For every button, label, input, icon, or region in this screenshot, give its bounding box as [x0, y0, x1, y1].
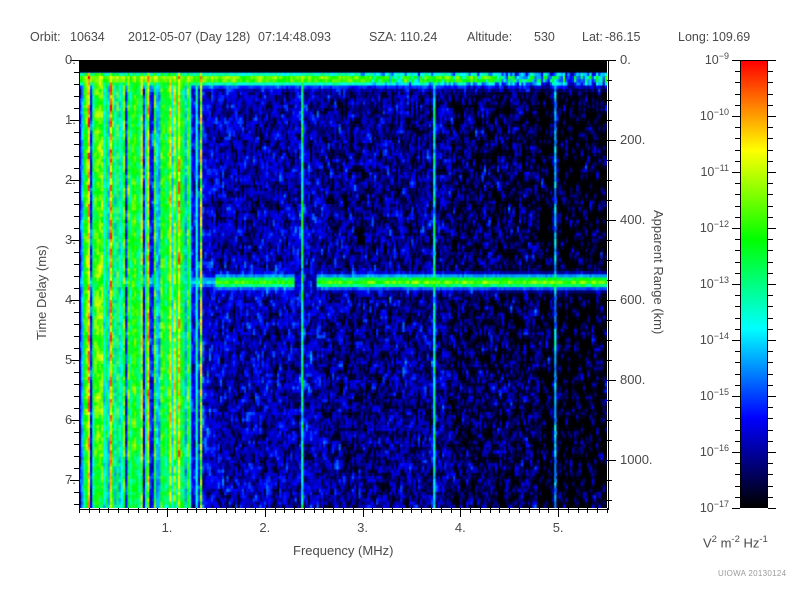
y-right-minor-tick [607, 420, 612, 421]
x-axis-title: Frequency (MHz) [293, 543, 393, 558]
y-left-minor-tick [74, 468, 79, 469]
y-left-minor-tick [74, 216, 79, 217]
y-left-minor-tick [74, 384, 79, 385]
header-metadata: Orbit: 10634 2012-05-07 (Day 128) 07:14:… [0, 30, 800, 48]
colorbar-minor-tick [735, 105, 740, 106]
y-right-major-tick [607, 140, 616, 141]
x-major-tick [363, 508, 364, 517]
y-left-minor-tick [74, 372, 79, 373]
colorbar-major-tick [768, 452, 776, 453]
unit-hz: Hz [740, 535, 760, 550]
y-left-minor-tick [74, 348, 79, 349]
x-minor-tick [226, 508, 227, 513]
x-minor-tick [108, 508, 109, 513]
colorbar-minor-tick [735, 161, 740, 162]
long-label: Long: [678, 30, 709, 44]
x-minor-tick [118, 508, 119, 513]
colorbar-minor-tick [735, 486, 740, 487]
x-minor-tick [138, 508, 139, 513]
colorbar-major-tick [732, 60, 740, 61]
colorbar-minor-tick [768, 430, 773, 431]
y-left-minor-tick [74, 492, 79, 493]
colorbar-unit-label: V2 m-2 Hz-1 [703, 534, 768, 550]
x-tick-label: 1. [162, 520, 173, 535]
colorbar-minor-tick [735, 273, 740, 274]
date-value: 2012-05-07 (Day 128) [128, 30, 250, 44]
colorbar-tick-label: 10−17 [700, 499, 729, 515]
x-minor-tick [392, 508, 393, 513]
y-left-minor-tick [74, 288, 79, 289]
colorbar-minor-tick [735, 239, 740, 240]
colorbar-major-tick [768, 396, 776, 397]
y-right-minor-tick [607, 280, 612, 281]
y-right-tick-label: 200. [620, 132, 645, 147]
colorbar-major-tick [732, 508, 740, 509]
x-minor-tick [421, 508, 422, 513]
x-minor-tick [255, 508, 256, 513]
y-left-minor-tick [74, 408, 79, 409]
y-left-minor-tick [74, 396, 79, 397]
y-axis-left-title: Time Delay (ms) [34, 245, 49, 340]
x-minor-tick [470, 508, 471, 513]
y-left-minor-tick [74, 84, 79, 85]
colorbar-minor-tick [768, 161, 773, 162]
orbit-label: Orbit: [30, 30, 61, 44]
x-tick-label: 3. [357, 520, 368, 535]
y-right-minor-tick [607, 480, 612, 481]
y-right-minor-tick [607, 360, 612, 361]
colorbar-minor-tick [768, 362, 773, 363]
colorbar-tick-label: 10−11 [700, 163, 729, 179]
colorbar-minor-tick [735, 127, 740, 128]
colorbar-major-tick [732, 172, 740, 173]
y-right-major-tick [607, 220, 616, 221]
colorbar-major-tick [768, 340, 776, 341]
colorbar-minor-tick [768, 217, 773, 218]
colorbar-minor-tick [735, 262, 740, 263]
y-left-minor-tick [74, 264, 79, 265]
colorbar-minor-tick [768, 138, 773, 139]
colorbar-major-tick [732, 340, 740, 341]
x-minor-tick [128, 508, 129, 513]
colorbar-minor-tick [735, 295, 740, 296]
x-minor-tick [343, 508, 344, 513]
y-right-minor-tick [607, 100, 612, 101]
y-right-tick-label: 0. [620, 52, 631, 67]
colorbar-minor-tick [735, 351, 740, 352]
y-left-minor-tick [74, 156, 79, 157]
colorbar-minor-tick [768, 94, 773, 95]
colorbar-major-tick [768, 60, 776, 61]
colorbar-minor-tick [735, 94, 740, 95]
colorbar-minor-tick [768, 250, 773, 251]
colorbar-minor-tick [735, 441, 740, 442]
x-major-tick [558, 508, 559, 517]
colorbar-tick-label: 10−13 [700, 275, 729, 291]
y-right-minor-tick [607, 320, 612, 321]
colorbar-minor-tick [735, 374, 740, 375]
colorbar-minor-tick [768, 486, 773, 487]
colorbar-major-tick [732, 228, 740, 229]
y-right-major-tick [607, 60, 616, 61]
y-left-minor-tick [74, 276, 79, 277]
colorbar-minor-tick [735, 82, 740, 83]
colorbar-major-tick [732, 396, 740, 397]
colorbar-major-tick [768, 508, 776, 509]
colorbar-minor-tick [768, 441, 773, 442]
colorbar-minor-tick [768, 374, 773, 375]
colorbar-minor-tick [768, 351, 773, 352]
colorbar-minor-tick [768, 183, 773, 184]
x-minor-tick [431, 508, 432, 513]
x-minor-tick [372, 508, 373, 513]
x-minor-tick [235, 508, 236, 513]
x-minor-tick [597, 508, 598, 513]
x-minor-tick [333, 508, 334, 513]
x-minor-tick [275, 508, 276, 513]
ionogram-figure: Orbit: 10634 2012-05-07 (Day 128) 07:14:… [0, 0, 800, 600]
colorbar-major-tick [732, 284, 740, 285]
y-left-minor-tick [74, 504, 79, 505]
colorbar-minor-tick [768, 71, 773, 72]
colorbar-minor-tick [768, 418, 773, 419]
sza-label: SZA: [369, 30, 397, 44]
colorbar-minor-tick [768, 127, 773, 128]
y-left-minor-tick [74, 324, 79, 325]
colorbar-minor-tick [735, 497, 740, 498]
y-left-minor-tick [74, 168, 79, 169]
colorbar-minor-tick [735, 407, 740, 408]
y-left-minor-tick [74, 444, 79, 445]
y-left-minor-tick [74, 132, 79, 133]
x-minor-tick [157, 508, 158, 513]
colorbar-minor-tick [768, 407, 773, 408]
x-minor-tick [607, 508, 608, 513]
colorbar-minor-tick [735, 463, 740, 464]
colorbar-minor-tick [735, 418, 740, 419]
x-minor-tick [539, 508, 540, 513]
y-left-minor-tick [74, 456, 79, 457]
colorbar-tick-label: 10−12 [700, 219, 729, 235]
y-right-minor-tick [607, 440, 612, 441]
orbit-value: 10634 [70, 30, 105, 44]
x-minor-tick [323, 508, 324, 513]
lat-label: Lat: [582, 30, 603, 44]
x-tick-label: 2. [259, 520, 270, 535]
x-minor-tick [587, 508, 588, 513]
colorbar-minor-tick [768, 318, 773, 319]
altitude-value: 530 [534, 30, 555, 44]
colorbar-gradient [741, 61, 767, 507]
colorbar-minor-tick [735, 138, 740, 139]
unit-m: m [717, 535, 731, 550]
colorbar-minor-tick [768, 206, 773, 207]
x-minor-tick [187, 508, 188, 513]
x-major-tick [460, 508, 461, 517]
y-right-minor-tick [607, 120, 612, 121]
x-minor-tick [89, 508, 90, 513]
y-right-minor-tick [607, 80, 612, 81]
x-major-tick [167, 508, 168, 517]
colorbar-minor-tick [768, 474, 773, 475]
time-value: 07:14:48.093 [258, 30, 331, 44]
colorbar-minor-tick [768, 262, 773, 263]
x-minor-tick [568, 508, 569, 513]
y-right-minor-tick [607, 260, 612, 261]
colorbar-minor-tick [735, 362, 740, 363]
x-minor-tick [314, 508, 315, 513]
colorbar-minor-tick [735, 329, 740, 330]
colorbar-minor-tick [735, 150, 740, 151]
y-left-minor-tick [74, 336, 79, 337]
colorbar [740, 60, 768, 508]
colorbar-minor-tick [735, 71, 740, 72]
colorbar-minor-tick [735, 183, 740, 184]
colorbar-minor-tick [735, 306, 740, 307]
colorbar-tick-label: 10−14 [700, 331, 729, 347]
y-right-minor-tick [607, 160, 612, 161]
x-minor-tick [245, 508, 246, 513]
colorbar-minor-tick [768, 82, 773, 83]
y-left-minor-tick [74, 312, 79, 313]
colorbar-minor-tick [768, 295, 773, 296]
colorbar-minor-tick [768, 239, 773, 240]
colorbar-minor-tick [735, 474, 740, 475]
colorbar-minor-tick [768, 105, 773, 106]
colorbar-minor-tick [735, 430, 740, 431]
x-minor-tick [294, 508, 295, 513]
colorbar-minor-tick [768, 329, 773, 330]
x-minor-tick [402, 508, 403, 513]
y-left-minor-tick [74, 228, 79, 229]
colorbar-minor-tick [768, 463, 773, 464]
y-left-minor-tick [74, 432, 79, 433]
x-minor-tick [99, 508, 100, 513]
x-minor-tick [79, 508, 80, 513]
x-minor-tick [411, 508, 412, 513]
colorbar-major-tick [768, 116, 776, 117]
colorbar-minor-tick [735, 194, 740, 195]
x-minor-tick [216, 508, 217, 513]
y-right-minor-tick [607, 180, 612, 181]
y-left-minor-tick [74, 108, 79, 109]
colorbar-major-tick [732, 452, 740, 453]
colorbar-minor-tick [768, 194, 773, 195]
y-left-minor-tick [74, 204, 79, 205]
y-left-minor-tick [74, 96, 79, 97]
colorbar-minor-tick [735, 206, 740, 207]
sza-value: 110.24 [400, 30, 437, 44]
colorbar-minor-tick [768, 150, 773, 151]
x-minor-tick [529, 508, 530, 513]
colorbar-minor-tick [768, 385, 773, 386]
x-minor-tick [304, 508, 305, 513]
colorbar-major-tick [768, 284, 776, 285]
x-minor-tick [284, 508, 285, 513]
y-right-minor-tick [607, 200, 612, 201]
x-minor-tick [548, 508, 549, 513]
y-right-major-tick [607, 380, 616, 381]
x-minor-tick [353, 508, 354, 513]
colorbar-tick-label: 10−10 [700, 107, 729, 123]
unit-hz-exp: -1 [759, 534, 767, 545]
colorbar-tick-label: 10−15 [700, 387, 729, 403]
colorbar-minor-tick [768, 497, 773, 498]
unit-m-exp: -2 [731, 534, 739, 545]
y-right-tick-label: 1000. [620, 452, 653, 467]
ionogram-heatmap [79, 60, 607, 508]
x-minor-tick [519, 508, 520, 513]
colorbar-major-tick [768, 228, 776, 229]
y-left-minor-tick [74, 252, 79, 253]
lat-value: -86.15 [605, 30, 640, 44]
y-right-tick-label: 600. [620, 292, 645, 307]
y-left-minor-tick [74, 72, 79, 73]
y-right-minor-tick [607, 240, 612, 241]
x-minor-tick [206, 508, 207, 513]
long-value: 109.69 [712, 30, 750, 44]
colorbar-major-tick [732, 116, 740, 117]
y-right-minor-tick [607, 500, 612, 501]
x-minor-tick [382, 508, 383, 513]
x-minor-tick [147, 508, 148, 513]
y-left-minor-tick [74, 144, 79, 145]
colorbar-tick-label: 10−16 [700, 443, 729, 459]
y-right-major-tick [607, 300, 616, 301]
x-minor-tick [509, 508, 510, 513]
colorbar-minor-tick [768, 273, 773, 274]
x-minor-tick [578, 508, 579, 513]
y-right-tick-label: 400. [620, 212, 645, 227]
heatmap-canvas [79, 60, 607, 508]
x-tick-label: 5. [553, 520, 564, 535]
colorbar-minor-tick [735, 217, 740, 218]
colorbar-minor-tick [735, 318, 740, 319]
colorbar-minor-tick [735, 385, 740, 386]
x-tick-label: 4. [455, 520, 466, 535]
credit-footer: UIOWA 20130124 [718, 569, 786, 578]
x-minor-tick [196, 508, 197, 513]
y-axis-right-title: Apparent Range (km) [651, 210, 666, 334]
altitude-label: Altitude: [467, 30, 512, 44]
x-minor-tick [480, 508, 481, 513]
colorbar-minor-tick [735, 250, 740, 251]
colorbar-minor-tick [768, 306, 773, 307]
colorbar-major-tick [768, 172, 776, 173]
y-right-major-tick [607, 460, 616, 461]
y-right-minor-tick [607, 400, 612, 401]
x-minor-tick [490, 508, 491, 513]
unit-v: V [703, 535, 712, 550]
x-minor-tick [441, 508, 442, 513]
y-left-minor-tick [74, 192, 79, 193]
y-right-minor-tick [607, 340, 612, 341]
y-right-tick-label: 800. [620, 372, 645, 387]
x-minor-tick [499, 508, 500, 513]
x-minor-tick [451, 508, 452, 513]
x-major-tick [265, 508, 266, 517]
x-minor-tick [177, 508, 178, 513]
colorbar-tick-label: 10−9 [705, 51, 729, 67]
